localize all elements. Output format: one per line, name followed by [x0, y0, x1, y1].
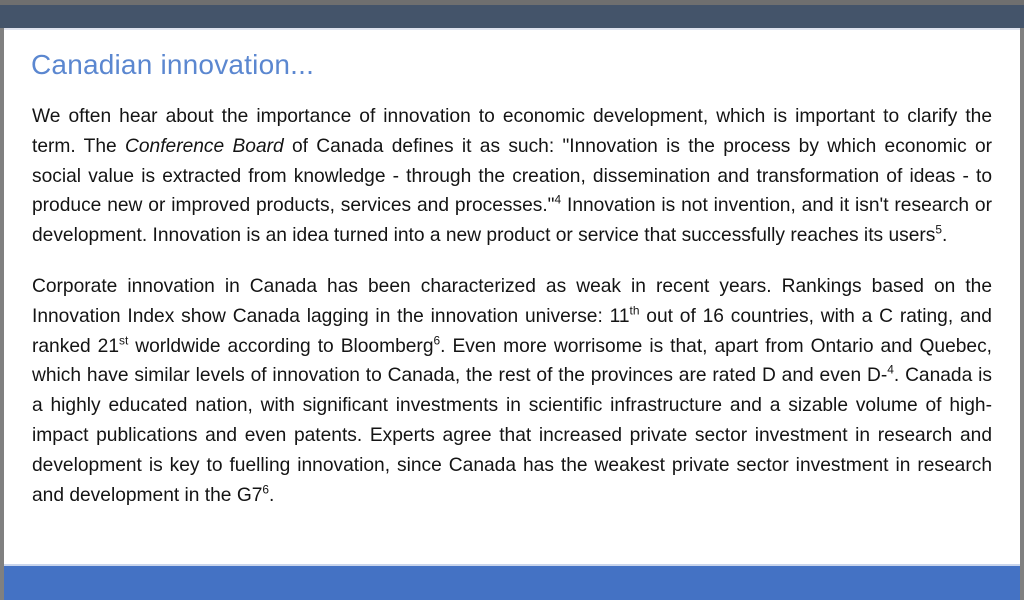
bottom-accent-bar: [4, 566, 1020, 600]
footnote-superscript: 5: [935, 223, 942, 237]
footnote-superscript: 4: [887, 363, 894, 377]
footnote-superscript: st: [119, 333, 128, 347]
footnote-superscript: th: [630, 303, 640, 317]
slide-title: Canadian innovation...: [31, 48, 314, 82]
paragraph-2: Corporate innovation in Canada has been …: [32, 272, 992, 510]
paragraph-1: We often hear about the importance of in…: [32, 102, 992, 251]
footnote-superscript: 6: [434, 333, 441, 347]
slide-border-right: [1020, 28, 1024, 600]
italic-run: Conference Board: [125, 136, 284, 157]
footnote-superscript: 4: [555, 193, 562, 207]
header-accent-band: [0, 5, 1024, 28]
slide-body-text: We often hear about the importance of in…: [32, 102, 992, 510]
footnote-superscript: 6: [262, 482, 269, 496]
slide: Canadian innovation... We often hear abo…: [0, 0, 1024, 600]
slide-content-area: Canadian innovation... We often hear abo…: [4, 30, 1020, 564]
